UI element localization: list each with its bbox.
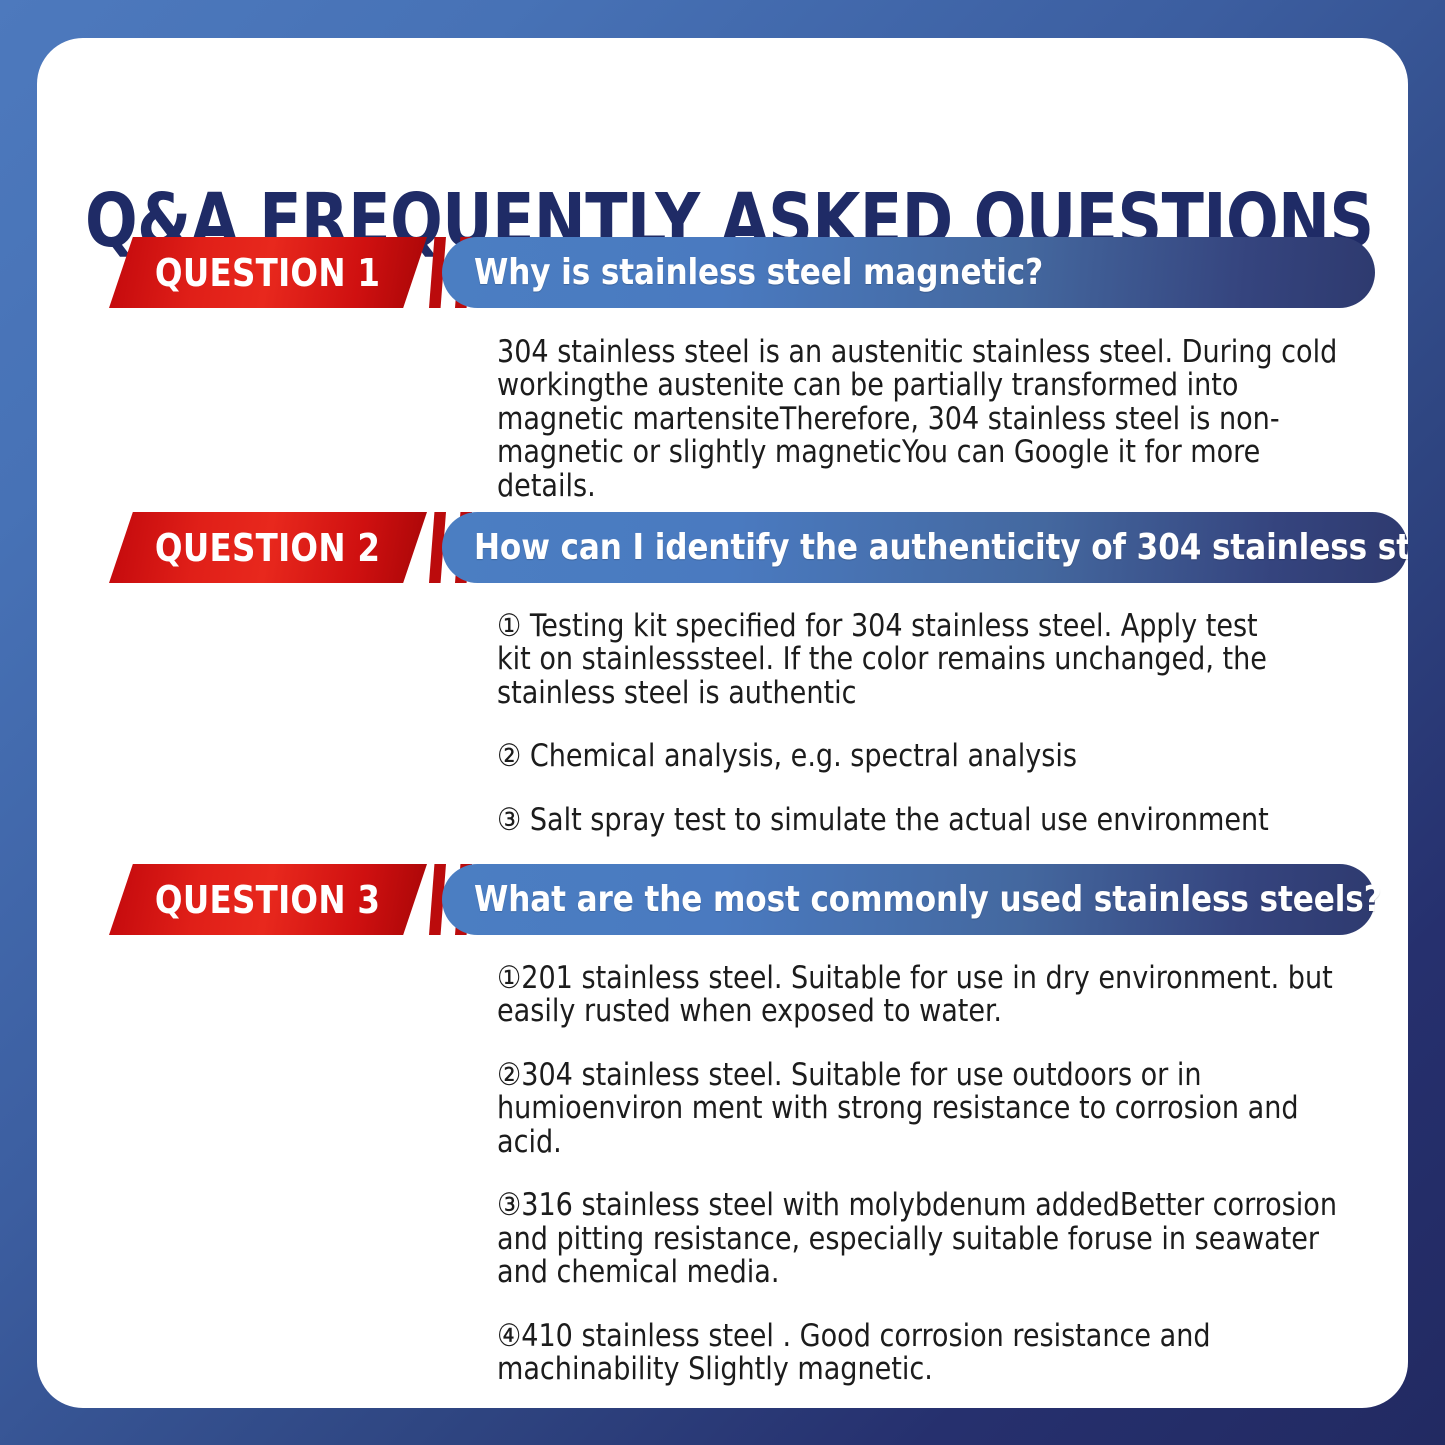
faq-header-2: QUESTION 2 How can I identify the authen… [37,512,1408,586]
answer-paragraph: ③ Salt spray test to simulate the actual… [497,804,1273,837]
faq-answer-2: ① Testing kit specified for 304 stainles… [497,610,1273,837]
answer-paragraph: ②304 stainless steel. Suitable for use o… [497,1059,1351,1159]
answer-paragraph: ② Chemical analysis, e.g. spectral analy… [497,740,1273,773]
question-tag-label: QUESTION 1 [155,251,380,295]
faq-header-3: QUESTION 3 What are the most commonly us… [37,864,1408,938]
question-tag-3[interactable]: QUESTION 3 [109,864,427,935]
answer-paragraph: ④410 stainless steel . Good corrosion re… [497,1320,1351,1387]
faq-card: Q&A FREQUENTLY ASKED QUESTIONS QUESTION … [37,38,1408,1408]
faq-block-2: QUESTION 2 How can I identify the authen… [37,512,1408,586]
faq-poster: Q&A FREQUENTLY ASKED QUESTIONS QUESTION … [0,0,1445,1445]
faq-header-1: QUESTION 1 Why is stainless steel magnet… [37,237,1408,311]
answer-paragraph: 304 stainless steel is an austenitic sta… [497,336,1351,503]
answer-paragraph: ① Testing kit specified for 304 stainles… [497,610,1273,710]
question-tag-2[interactable]: QUESTION 2 [109,512,427,583]
faq-block-3: QUESTION 3 What are the most commonly us… [37,864,1408,938]
question-pill-2[interactable]: How can I identify the authenticity of 3… [442,512,1408,583]
question-tag-label: QUESTION 3 [155,878,380,922]
question-pill-3[interactable]: What are the most commonly used stainles… [442,864,1375,935]
question-text: How can I identify the authenticity of 3… [474,527,1408,568]
answer-paragraph: ①201 stainless steel. Suitable for use i… [497,962,1351,1029]
question-text: What are the most commonly used stainles… [474,879,1382,920]
faq-answer-1: 304 stainless steel is an austenitic sta… [497,336,1351,503]
question-tag-label: QUESTION 2 [155,526,380,570]
question-text: Why is stainless steel magnetic? [474,252,1043,293]
question-tag-1[interactable]: QUESTION 1 [109,237,427,308]
faq-answer-3: ①201 stainless steel. Suitable for use i… [497,962,1351,1387]
question-pill-1[interactable]: Why is stainless steel magnetic? [442,237,1375,308]
answer-paragraph: ③316 stainless steel with molybdenum add… [497,1189,1351,1289]
faq-block-1: QUESTION 1 Why is stainless steel magnet… [37,237,1408,311]
